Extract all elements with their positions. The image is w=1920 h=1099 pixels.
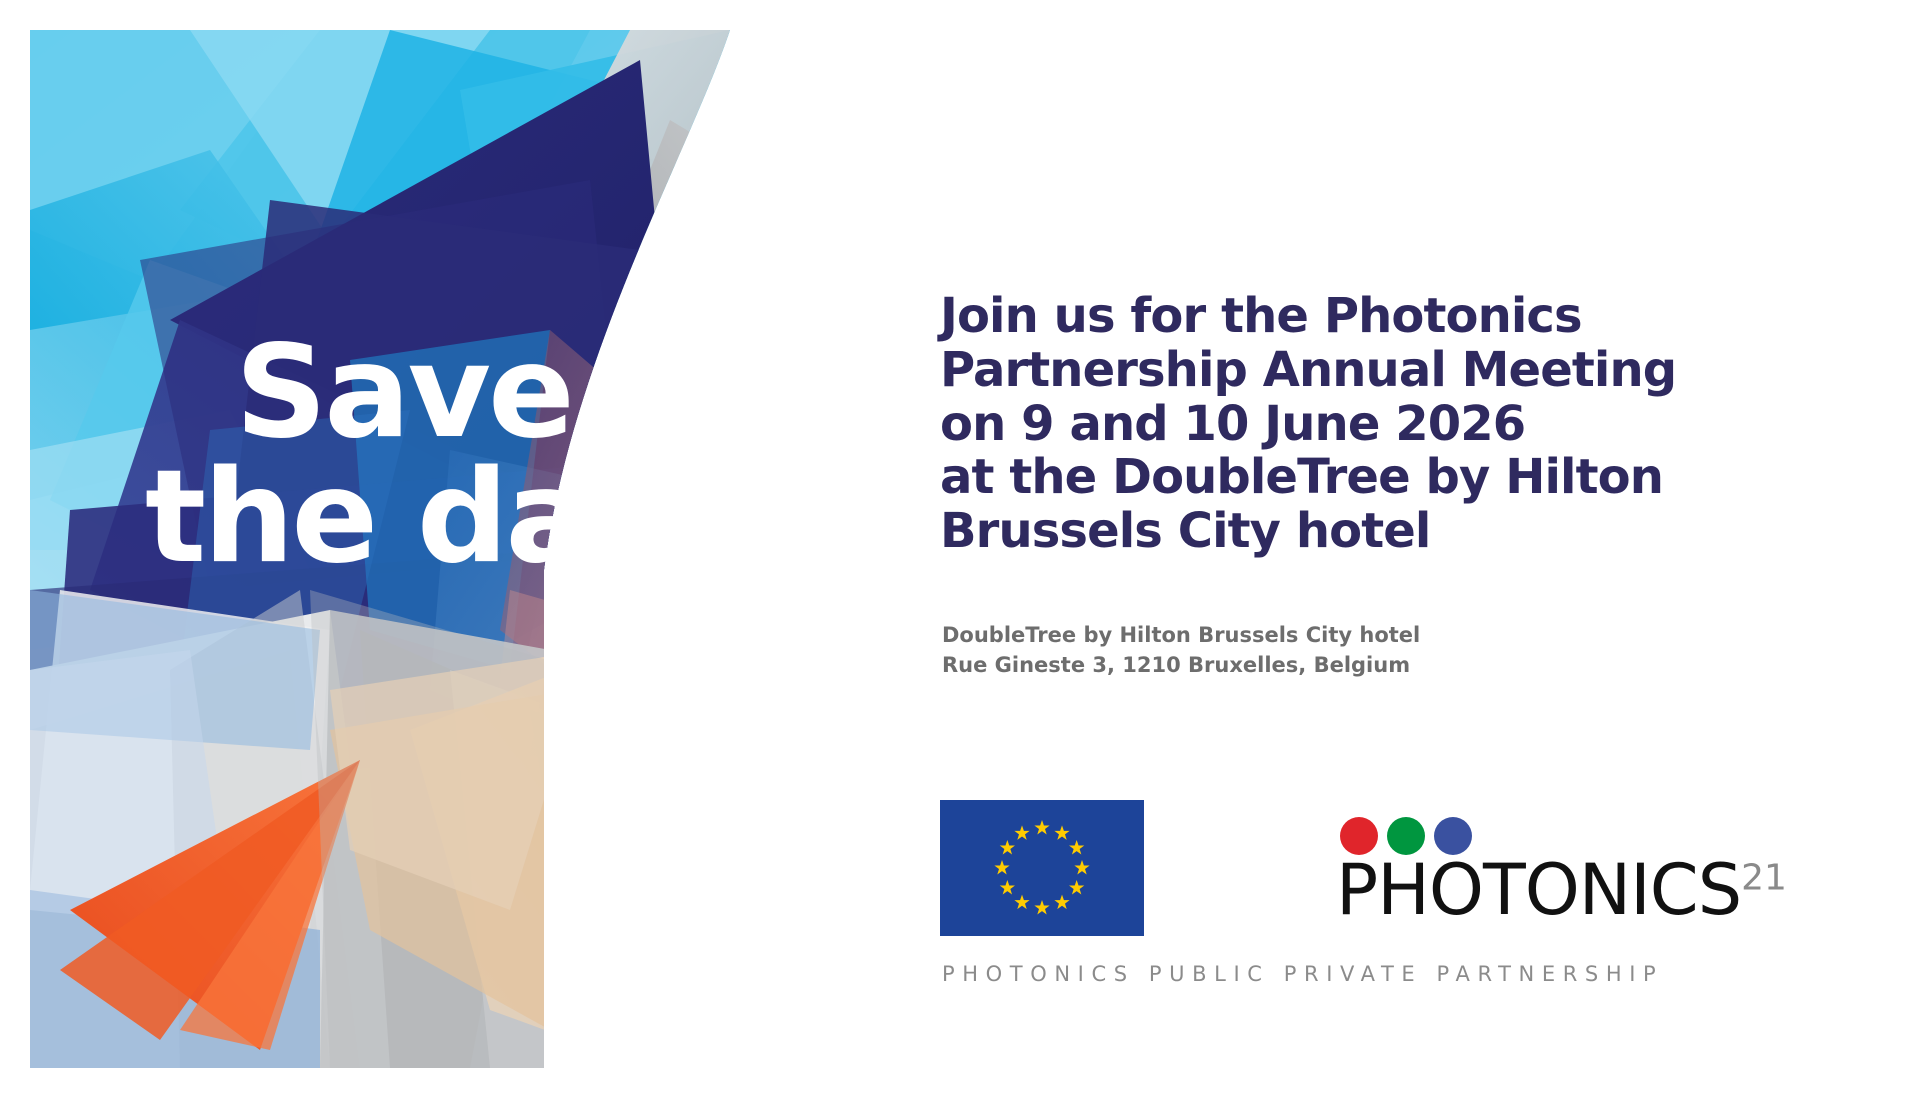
abstract-geometric-graphic: Save the date <box>30 30 770 1068</box>
venue-address: DoubleTree by Hilton Brussels City hotel… <box>942 620 1420 681</box>
content-column: Join us for the Photonics Partnership An… <box>940 0 1870 1099</box>
logo-row: PHOTONICS21 <box>940 795 1750 940</box>
photonics-word: PHOTONICS <box>1336 849 1741 931</box>
partnership-tagline: PHOTONICS PUBLIC PRIVATE PARTNERSHIP <box>942 962 1663 986</box>
headline-line-3: on 9 and 10 June 2026 <box>940 398 1700 452</box>
headline-line-2: Partnership Annual Meeting <box>940 344 1700 398</box>
address-line-2: Rue Gineste 3, 1210 Bruxelles, Belgium <box>942 650 1420 680</box>
address-line-1: DoubleTree by Hilton Brussels City hotel <box>942 620 1420 650</box>
photonics-superscript: 21 <box>1741 858 1787 899</box>
photonics21-wordmark: PHOTONICS21 <box>1336 855 1787 925</box>
headline-line-1: Join us for the Photonics <box>940 290 1700 344</box>
event-headline: Join us for the Photonics Partnership An… <box>940 290 1700 559</box>
eu-flag-icon <box>940 800 1144 936</box>
save-the-date-poster: Save the date Join us for the Photonics … <box>0 0 1920 1099</box>
photonics21-logo: PHOTONICS21 <box>1336 795 1736 940</box>
polygon-artwork <box>30 30 770 1068</box>
eu-flag-stars <box>940 800 1144 936</box>
headline-line-4: at the DoubleTree by Hilton <box>940 451 1700 505</box>
headline-line-5: Brussels City hotel <box>940 505 1700 559</box>
